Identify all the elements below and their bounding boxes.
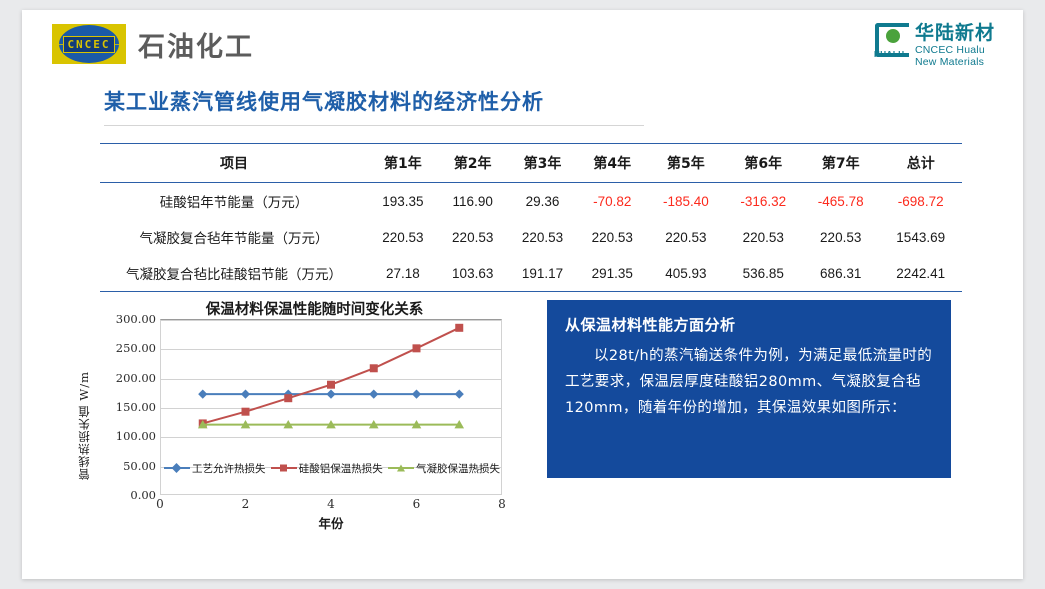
- th-item: 项目: [100, 144, 368, 183]
- analysis-panel: 从保温材料性能方面分析 以28t/h的蒸汽输送条件为例，为满足最低流量时的工艺要…: [547, 300, 951, 478]
- row-label: 气凝胶复合毡年节能量（万元）: [100, 219, 368, 255]
- chart-legend: 工艺允许热损失硅酸铝保温热损失气凝胶保温热损失: [164, 458, 500, 478]
- chart-data-point: [369, 389, 378, 398]
- chart-y-tick: 200.00: [116, 371, 156, 385]
- chart-y-tick: 50.00: [123, 459, 156, 473]
- chart-series-triangle: [198, 420, 464, 428]
- title-divider: [104, 125, 644, 126]
- chart-data-point: [284, 394, 292, 402]
- slide-canvas: CNCEC 石油化工 HUALU 华陆新材 CNCEC Hualu New Ma…: [22, 10, 1023, 579]
- table-row: 硅酸铝年节能量（万元） 193.35 116.90 29.36 -70.82 -…: [100, 183, 962, 220]
- chart-x-tick: 2: [242, 497, 250, 511]
- table-header-row: 项目 第1年 第2年 第3年 第4年 第5年 第6年 第7年 总计: [100, 144, 962, 183]
- legend-item: 硅酸铝保温热损失: [271, 461, 383, 476]
- chart-x-tick: 8: [498, 497, 506, 511]
- chart-y-tick: 100.00: [116, 429, 156, 443]
- chart-x-axis-label: 年份: [160, 513, 502, 532]
- cell: 116.90: [438, 183, 508, 220]
- hualu-logo: HUALU 华陆新材 CNCEC Hualu New Materials: [874, 23, 995, 69]
- legend-swatch-icon: [164, 467, 190, 469]
- chart-x-tick: 6: [413, 497, 421, 511]
- cell: 103.63: [438, 255, 508, 292]
- cell: 27.18: [368, 255, 438, 292]
- heat-loss-chart: 保温材料保温性能随时间变化关系 管线热损失值 W/m 0.0050.00100.…: [80, 298, 535, 530]
- chart-data-point: [413, 344, 421, 352]
- th-year-6: 第6年: [725, 144, 802, 183]
- cell: 220.53: [368, 219, 438, 255]
- cncec-mark-text: CNCEC: [63, 36, 114, 53]
- chart-data-point: [241, 389, 250, 398]
- th-total: 总计: [879, 144, 962, 183]
- th-year-1: 第1年: [368, 144, 438, 183]
- cell: 193.35: [368, 183, 438, 220]
- cell: 220.53: [802, 219, 879, 255]
- economic-analysis-table: 项目 第1年 第2年 第3年 第4年 第5年 第6年 第7年 总计 硅酸铝年节能…: [100, 143, 962, 292]
- cell: 220.53: [577, 219, 647, 255]
- legend-item: 工艺允许热损失: [164, 461, 266, 476]
- cell: 220.53: [508, 219, 578, 255]
- th-year-7: 第7年: [802, 144, 879, 183]
- chart-x-tick: 4: [327, 497, 335, 511]
- cncec-globe-icon: CNCEC: [52, 24, 126, 64]
- th-year-2: 第2年: [438, 144, 508, 183]
- analysis-panel-body: 以28t/h的蒸汽输送条件为例，为满足最低流量时的工艺要求，保温层厚度硅酸铝28…: [565, 344, 933, 421]
- chart-y-tick: 300.00: [116, 312, 156, 326]
- cell: -70.82: [577, 183, 647, 220]
- hualu-brand-en2: New Materials: [915, 56, 995, 68]
- legend-swatch-icon: [271, 467, 297, 469]
- cell: 405.93: [647, 255, 724, 292]
- cell: 1543.69: [879, 219, 962, 255]
- chart-data-point: [455, 389, 464, 398]
- chart-x-tick: 0: [156, 497, 164, 511]
- th-year-4: 第4年: [577, 144, 647, 183]
- cell: 220.53: [438, 219, 508, 255]
- table-row: 气凝胶复合毡年节能量（万元） 220.53 220.53 220.53 220.…: [100, 219, 962, 255]
- slide-header: CNCEC 石油化工 HUALU 华陆新材 CNCEC Hualu New Ma…: [22, 10, 1023, 72]
- legend-label: 工艺允许热损失: [192, 461, 266, 476]
- cncec-brand-label: 石油化工: [138, 25, 254, 64]
- cell: 291.35: [577, 255, 647, 292]
- chart-title: 保温材料保温性能随时间变化关系: [94, 298, 535, 319]
- legend-marker-icon: [172, 463, 182, 473]
- cell: 686.31: [802, 255, 879, 292]
- legend-marker-icon: [280, 465, 287, 472]
- chart-y-axis-label: 管线热损失值 W/m: [76, 371, 92, 480]
- cncec-logo: CNCEC 石油化工: [52, 24, 254, 64]
- chart-data-point: [412, 389, 421, 398]
- chart-data-point: [242, 408, 250, 416]
- page-title: 某工业蒸汽管线使用气凝胶材料的经济性分析: [104, 86, 644, 116]
- cell: 220.53: [725, 219, 802, 255]
- th-year-5: 第5年: [647, 144, 724, 183]
- hualu-brand-en1: CNCEC Hualu: [915, 44, 995, 56]
- chart-data-point: [455, 324, 463, 332]
- table-row: 气凝胶复合毡比硅酸铝节能（万元） 27.18 103.63 191.17 291…: [100, 255, 962, 292]
- hualu-mark-word: HUALU: [874, 50, 905, 59]
- chart-y-tick: 250.00: [116, 341, 156, 355]
- cell: -185.40: [647, 183, 724, 220]
- chart-line: [203, 328, 460, 424]
- hualu-mark-icon: HUALU: [874, 23, 908, 59]
- legend-swatch-icon: [388, 467, 414, 469]
- legend-item: 气凝胶保温热损失: [388, 461, 500, 476]
- hualu-brand-cn: 华陆新材: [915, 23, 995, 44]
- row-label: 气凝胶复合毡比硅酸铝节能（万元）: [100, 255, 368, 292]
- title-block: 某工业蒸汽管线使用气凝胶材料的经济性分析: [104, 86, 644, 126]
- chart-series-diamond: [198, 389, 464, 398]
- chart-x-ticks: 02468: [160, 497, 502, 513]
- cell: -316.32: [725, 183, 802, 220]
- chart-y-tick: 0.00: [130, 488, 156, 502]
- th-year-3: 第3年: [508, 144, 578, 183]
- cell: 220.53: [647, 219, 724, 255]
- chart-y-tick: 150.00: [116, 400, 156, 414]
- chart-data-point: [327, 381, 335, 389]
- analysis-panel-heading: 从保温材料性能方面分析: [565, 314, 933, 335]
- legend-label: 硅酸铝保温热损失: [299, 461, 383, 476]
- row-label: 硅酸铝年节能量（万元）: [100, 183, 368, 220]
- cell: 29.36: [508, 183, 578, 220]
- cell: 2242.41: [879, 255, 962, 292]
- legend-marker-icon: [397, 465, 405, 472]
- chart-data-point: [198, 389, 207, 398]
- chart-data-point: [370, 364, 378, 372]
- chart-data-point: [326, 389, 335, 398]
- cell: 536.85: [725, 255, 802, 292]
- cell: -698.72: [879, 183, 962, 220]
- legend-label: 气凝胶保温热损失: [416, 461, 500, 476]
- chart-y-ticks: 0.0050.00100.00150.00200.00250.00300.00: [94, 319, 156, 495]
- cell: -465.78: [802, 183, 879, 220]
- chart-series-square: [199, 324, 464, 428]
- cell: 191.17: [508, 255, 578, 292]
